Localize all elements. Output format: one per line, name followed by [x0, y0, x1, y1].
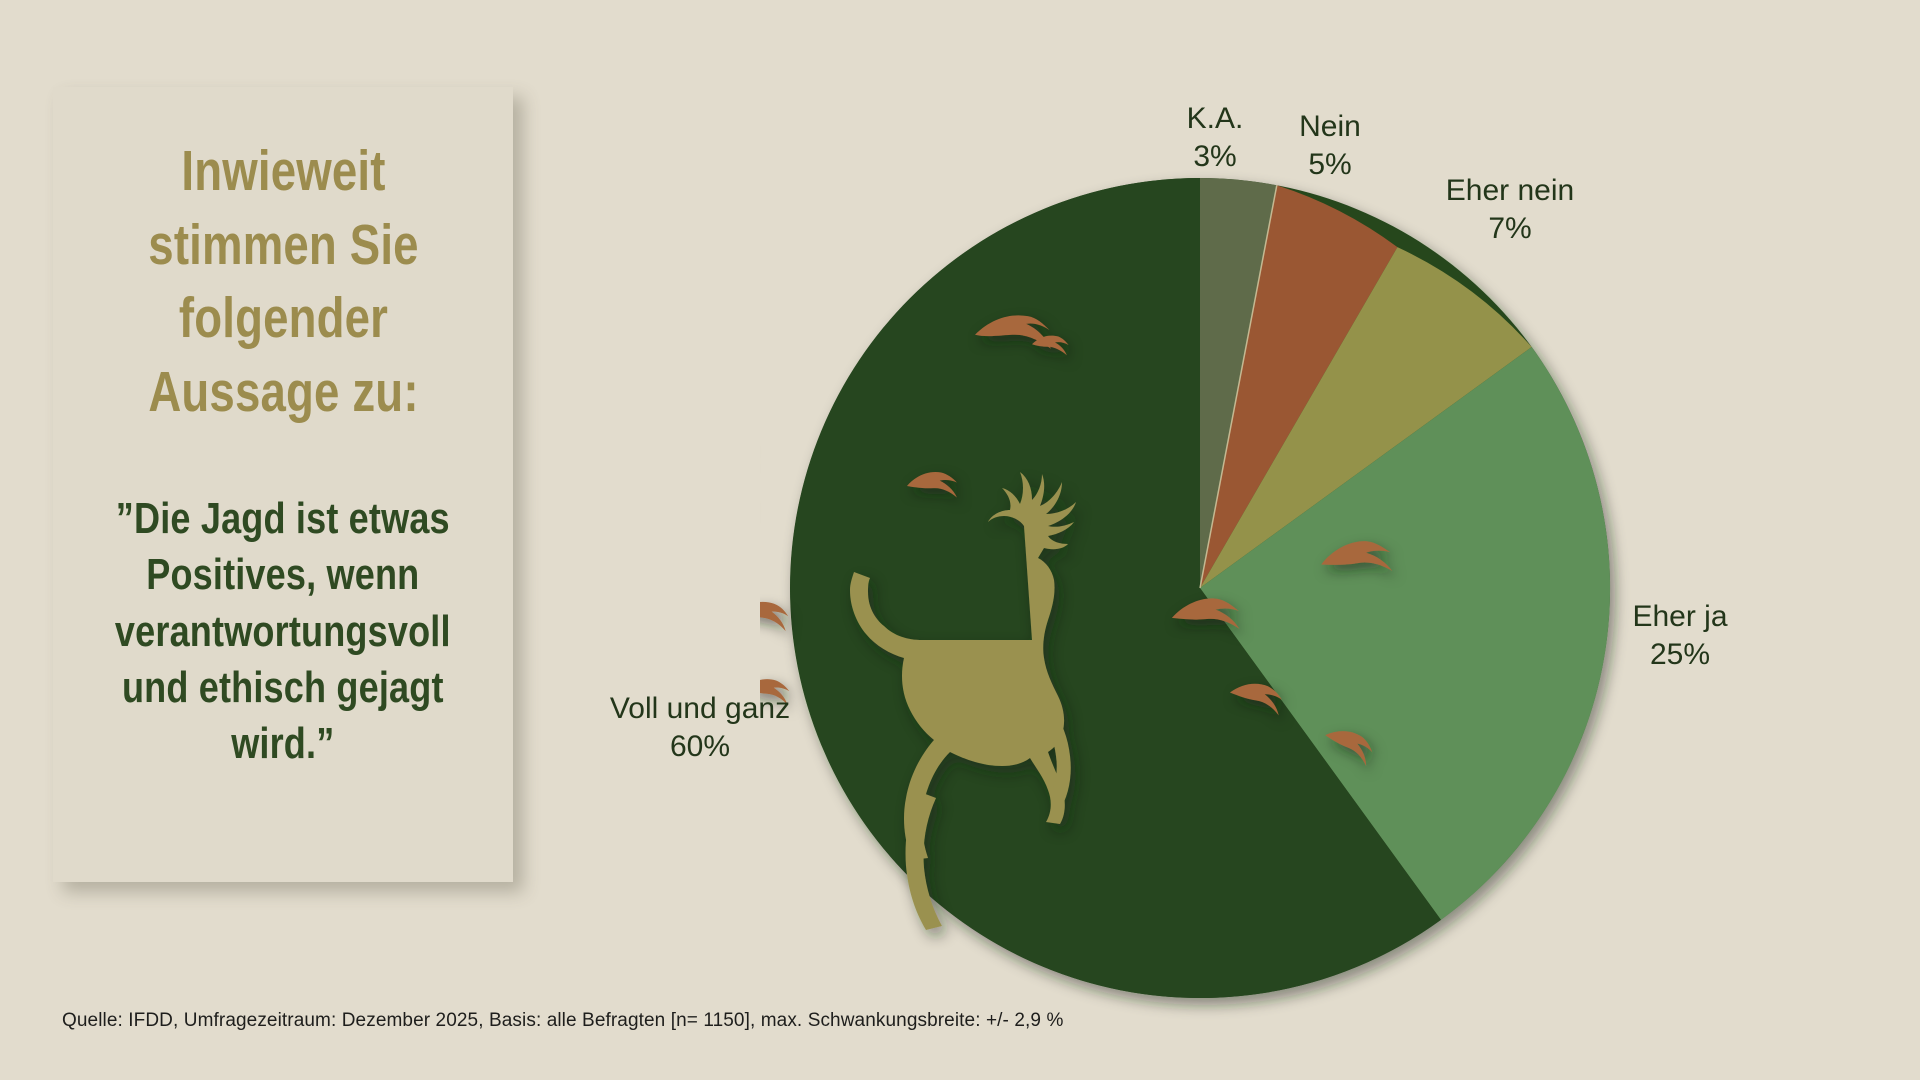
question-statement: ”Die Jagd ist etwas Positives, wenn vera…	[93, 491, 473, 773]
pie-label-ka-name: K.A.	[1187, 102, 1244, 135]
pie-chart	[760, 148, 1640, 1028]
pie-label-eher-ja-name: Eher ja	[1632, 600, 1727, 633]
source-note: Quelle: IFDD, Umfragezeitraum: Dezember …	[62, 1010, 1063, 1032]
bird-icon	[760, 678, 790, 705]
question-card: Inwieweit stimmen Sie folgender Aussage …	[53, 87, 513, 882]
bird-icon	[760, 599, 790, 631]
pie-label-nein-name: Nein	[1299, 110, 1361, 143]
question-heading: Inwieweit stimmen Sie folgender Aussage …	[93, 135, 473, 429]
